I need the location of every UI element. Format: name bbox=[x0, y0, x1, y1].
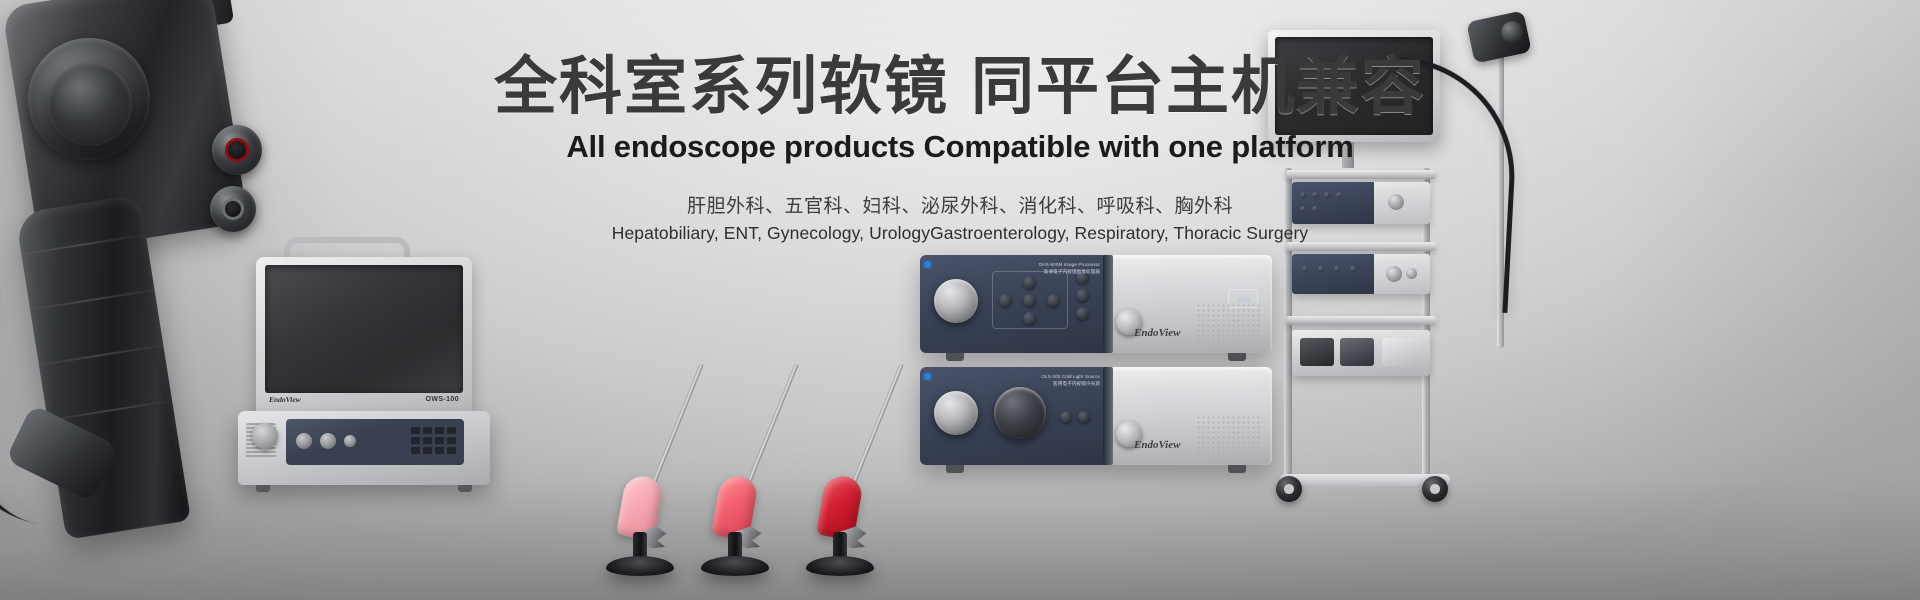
key-lamp bbox=[1078, 411, 1090, 423]
light-source-brand-label: EndoView bbox=[1134, 439, 1180, 451]
headline-block: 全科室系列软镜同平台主机兼容 All endoscope products Co… bbox=[0, 52, 1920, 244]
processor-main-dial bbox=[934, 279, 978, 323]
light-source-model-label: OLS-300 Cold Light Source 医用电子内窥镜冷光源 bbox=[1014, 374, 1100, 388]
key-left bbox=[999, 294, 1012, 307]
processor-model-en: OHS-600M Image Processor bbox=[1039, 262, 1100, 267]
connector-port-2 bbox=[320, 433, 336, 449]
processor-brand-label: EndoView bbox=[1134, 327, 1180, 339]
cart-wheel-right bbox=[1422, 476, 1448, 502]
processor-model-label: OHS-600M Image Processor 高清电子内窥镜图像处理器 bbox=[1030, 262, 1100, 276]
key-menu bbox=[1023, 294, 1036, 307]
key-right bbox=[1047, 294, 1060, 307]
image-processor-unit: OHS-600M Image Processor 高清电子内窥镜图像处理器 US… bbox=[920, 255, 1272, 353]
processor-keypad bbox=[992, 271, 1068, 329]
processor-stack: OHS-600M Image Processor 高清电子内窥镜图像处理器 US… bbox=[920, 255, 1275, 485]
workstation-control-panel bbox=[286, 419, 464, 465]
cart-unit-2-panel bbox=[1292, 254, 1374, 294]
key-capture bbox=[1076, 289, 1089, 302]
light-source-front-panel: OLS-300 Cold Light Source 医用电子内窥镜冷光源 bbox=[920, 367, 1108, 465]
base-foot-right bbox=[458, 485, 472, 492]
light-source-model-en: OLS-300 Cold Light Source bbox=[1041, 374, 1100, 379]
cart-unit-3-module-b bbox=[1340, 338, 1374, 366]
key-mode bbox=[1076, 307, 1089, 320]
processor-front-panel: OHS-600M Image Processor 高清电子内窥镜图像处理器 bbox=[920, 255, 1108, 353]
vent-grille bbox=[1196, 415, 1260, 455]
unit-foot-left bbox=[946, 465, 964, 473]
light-source-output-port bbox=[934, 391, 978, 435]
unit-foot-left bbox=[946, 353, 964, 361]
cart-shelf-lower bbox=[1286, 316, 1436, 325]
keypad bbox=[411, 427, 456, 454]
connector-port-3 bbox=[344, 435, 356, 447]
title-cn-part2: 同平台主机兼容 bbox=[971, 52, 1426, 122]
light-source-model-cn: 医用电子内窥镜冷光源 bbox=[1053, 381, 1100, 386]
key-up bbox=[1023, 276, 1036, 289]
key-standby bbox=[1060, 411, 1072, 423]
list-item bbox=[800, 332, 880, 582]
instrument-stand-base bbox=[701, 556, 769, 576]
departments-chinese: 肝胆外科、五官科、妇科、泌尿外科、消化科、呼吸科、胸外科 bbox=[0, 191, 1920, 218]
workstation-model-label: OWS-100 bbox=[425, 396, 459, 403]
cart-unit-3-module-c bbox=[1382, 338, 1422, 366]
cart-wheel-left bbox=[1276, 476, 1302, 502]
promotional-banner: 全科室系列软镜同平台主机兼容 All endoscope products Co… bbox=[0, 0, 1920, 600]
key-down bbox=[1023, 312, 1036, 325]
departments-english: Hepatobiliary, ENT, Gynecology, UrologyG… bbox=[0, 223, 1920, 244]
power-led bbox=[924, 261, 931, 268]
vent-grille bbox=[1196, 303, 1260, 343]
page-title: 全科室系列软镜同平台主机兼容 bbox=[0, 52, 1920, 123]
instrument-stand-base bbox=[806, 556, 874, 576]
subtitle-english: All endoscope products Compatible with o… bbox=[0, 129, 1920, 165]
processor-model-cn: 高清电子内窥镜图像处理器 bbox=[1044, 269, 1100, 274]
instrument-stand-base bbox=[606, 556, 674, 576]
brightness-dial[interactable] bbox=[994, 387, 1046, 439]
unit-foot-right bbox=[1228, 353, 1246, 361]
light-source-unit: OLS-300 Cold Light Source 医用电子内窥镜冷光源 End… bbox=[920, 367, 1272, 465]
power-led bbox=[924, 373, 931, 380]
unit-foot-right bbox=[1228, 465, 1246, 473]
cart-unit-3 bbox=[1292, 330, 1430, 376]
mounted-endoscope-dial bbox=[1499, 19, 1525, 45]
title-cn-part1: 全科室系列软镜 bbox=[494, 52, 949, 122]
cart-unit-3-module-a bbox=[1300, 338, 1334, 366]
list-item bbox=[695, 332, 775, 582]
list-item bbox=[600, 332, 680, 582]
